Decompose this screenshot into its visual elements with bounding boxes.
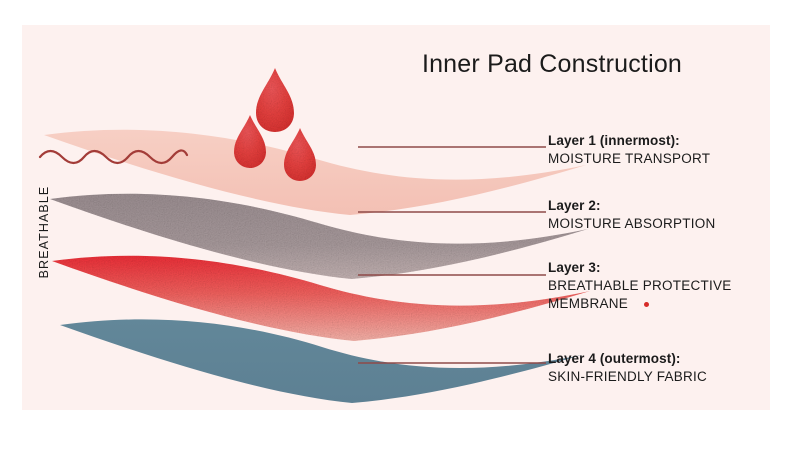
- layer-2-description: MOISTURE ABSORPTION: [548, 215, 716, 233]
- layer-1-heading: Layer 1 (innermost):: [548, 132, 710, 150]
- layer-3-description-line2: MEMBRANE: [548, 295, 732, 313]
- layer-1-description: MOISTURE TRANSPORT: [548, 150, 710, 168]
- layer-3-description: BREATHABLE PROTECTIVE: [548, 277, 732, 295]
- layer-4-heading: Layer 4 (outermost):: [548, 350, 707, 368]
- droplet-right-icon: [284, 128, 316, 181]
- droplet-top-icon: [256, 68, 294, 132]
- layer-4-description: SKIN-FRIENDLY FABRIC: [548, 368, 707, 386]
- layer-1-label: Layer 1 (innermost): MOISTURE TRANSPORT: [548, 132, 710, 168]
- layer-3-label: Layer 3: BREATHABLE PROTECTIVE MEMBRANE: [548, 259, 732, 313]
- breathable-side-label: BREATHABLE: [37, 172, 51, 292]
- infographic-root: Inner Pad Construction BREATHABLE Layer …: [0, 0, 800, 449]
- diagram-canvas: Inner Pad Construction BREATHABLE Layer …: [22, 25, 770, 410]
- layer-4-label: Layer 4 (outermost): SKIN-FRIENDLY FABRI…: [548, 350, 707, 386]
- page-title: Inner Pad Construction: [382, 50, 722, 79]
- layer-2-heading: Layer 2:: [548, 197, 716, 215]
- membrane-accent-dot-icon: [644, 302, 649, 307]
- layer-2-label: Layer 2: MOISTURE ABSORPTION: [548, 197, 716, 233]
- layer-3-description-line2-text: MEMBRANE: [548, 295, 628, 313]
- layer-3-heading: Layer 3:: [548, 259, 732, 277]
